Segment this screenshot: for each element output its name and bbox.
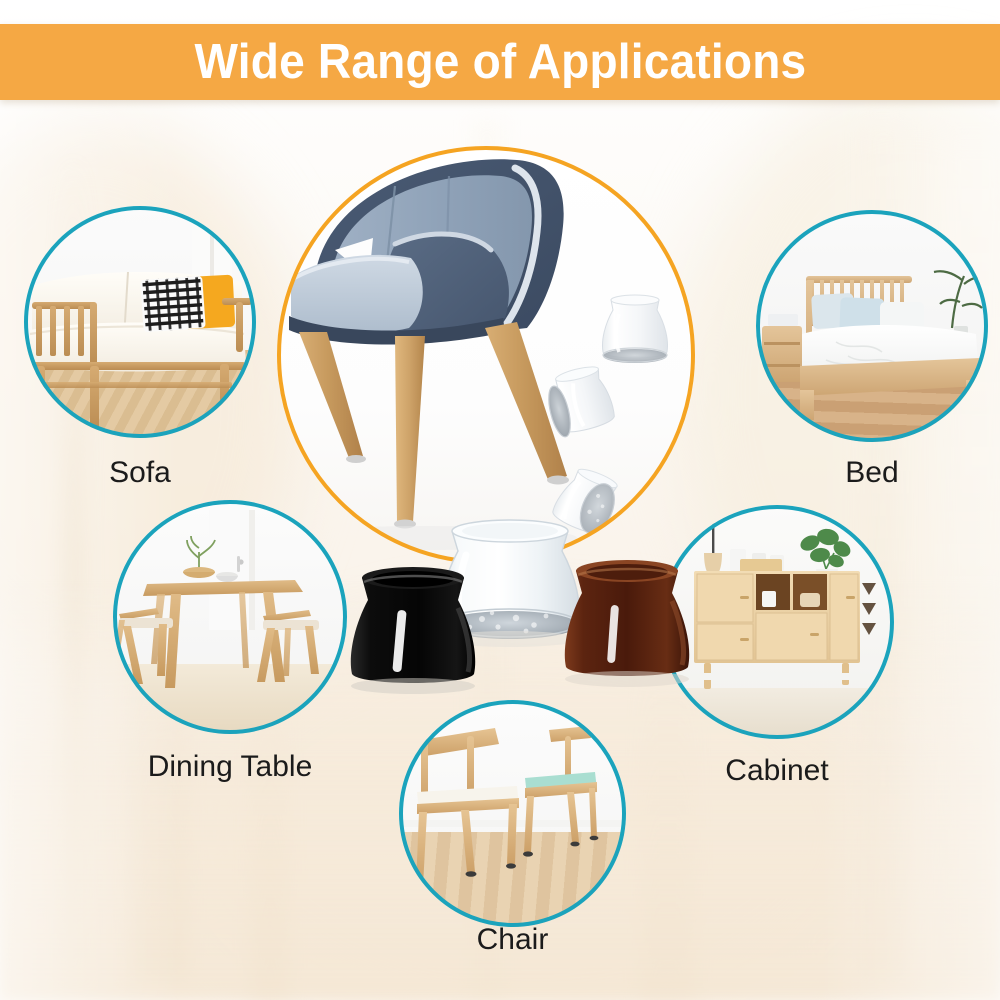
application-circle-dining-table bbox=[113, 500, 347, 734]
caption-chair: Chair bbox=[399, 925, 626, 955]
application-circle-chair bbox=[399, 700, 626, 927]
dining-chair-left bbox=[113, 608, 173, 684]
header-banner: Wide Range of Applications bbox=[0, 24, 1000, 100]
application-circle-bed bbox=[756, 210, 988, 442]
chair-front bbox=[414, 728, 519, 891]
page-title: Wide Range of Applications bbox=[194, 38, 806, 87]
potted-plant bbox=[934, 271, 986, 328]
caption-bed: Bed bbox=[756, 458, 988, 488]
application-showcase-poster: Wide Range of Applications bbox=[0, 0, 1000, 1000]
chair-scene bbox=[399, 700, 626, 927]
chair-back bbox=[523, 726, 598, 857]
caption-sofa: Sofa bbox=[24, 458, 256, 488]
caption-dining-table: Dining Table bbox=[93, 752, 367, 782]
dining-chair-right bbox=[257, 610, 319, 682]
application-circle-sofa bbox=[24, 206, 256, 438]
leg-cap-clear-tilted bbox=[542, 363, 617, 439]
leg-cap-black-sample bbox=[338, 562, 488, 702]
sofa-scene bbox=[24, 206, 256, 438]
dining-table-scene bbox=[113, 500, 347, 734]
leg-cap-clear-upright bbox=[602, 295, 667, 363]
leg-cap-brown-sample bbox=[552, 555, 702, 695]
caption-cabinet: Cabinet bbox=[660, 756, 894, 786]
bed-scene bbox=[756, 210, 988, 442]
